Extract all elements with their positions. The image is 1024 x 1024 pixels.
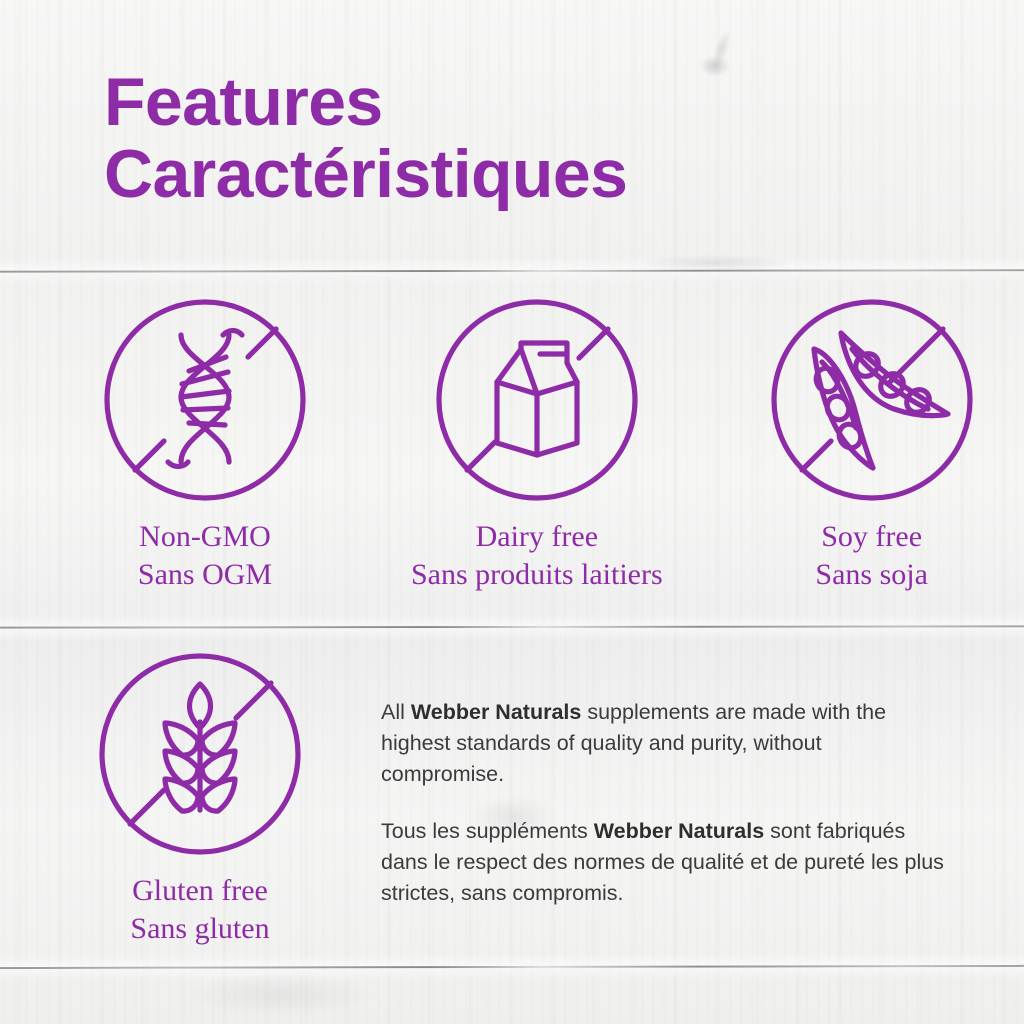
no-gluten-wheat-icon [96, 650, 304, 858]
plank-seam-top [0, 269, 1024, 270]
plank-seam-bottom [0, 965, 1024, 967]
body-copy: All Webber Naturals supplements are made… [381, 697, 947, 909]
feature-gluten-free: Gluten free Sans gluten [96, 650, 304, 948]
brand-name: Webber Naturals [411, 700, 581, 724]
no-soy-bean-pods-icon [768, 296, 976, 504]
title-line-english: Features [104, 66, 627, 138]
feature-label-dairy-free: Dairy free Sans produits laitiers [411, 518, 663, 594]
feature-soy-free: Soy free Sans soja [768, 296, 976, 594]
brand-name: Webber Naturals [594, 819, 764, 843]
no-gmo-dna-icon [101, 296, 309, 504]
wood-knot [700, 55, 730, 77]
feature-dairy-free: Dairy free Sans produits laitiers [411, 296, 663, 594]
copy-en-before-brand: All [381, 700, 411, 724]
label-english: Soy free [815, 518, 928, 556]
feature-row-primary: Non-GMO Sans OGM [0, 296, 1024, 594]
label-french: Sans gluten [130, 910, 269, 948]
wood-knot [709, 27, 735, 69]
label-french: Sans produits laitiers [411, 556, 663, 594]
page-title: Features Caractéristiques [104, 66, 627, 210]
copy-fr-before-brand: Tous les suppléments [381, 819, 594, 843]
feature-label-soy-free: Soy free Sans soja [815, 518, 928, 594]
label-english: Dairy free [411, 518, 663, 556]
feature-non-gmo: Non-GMO Sans OGM [101, 296, 309, 594]
title-line-french: Caractéristiques [104, 138, 627, 210]
feature-label-gluten-free: Gluten free Sans gluten [130, 872, 269, 948]
label-french: Sans OGM [138, 556, 272, 594]
paragraph-french: Tous les suppléments Webber Naturals son… [381, 816, 947, 909]
no-dairy-milk-carton-icon [433, 296, 641, 504]
wood-knot [640, 255, 790, 271]
wood-knot [190, 975, 370, 1015]
label-english: Gluten free [130, 872, 269, 910]
plank-seam-middle [0, 625, 1024, 626]
label-english: Non-GMO [138, 518, 272, 556]
paragraph-english: All Webber Naturals supplements are made… [381, 697, 947, 790]
features-poster: Features Caractéristiques [0, 0, 1024, 1024]
feature-label-non-gmo: Non-GMO Sans OGM [138, 518, 272, 594]
label-french: Sans soja [815, 556, 928, 594]
